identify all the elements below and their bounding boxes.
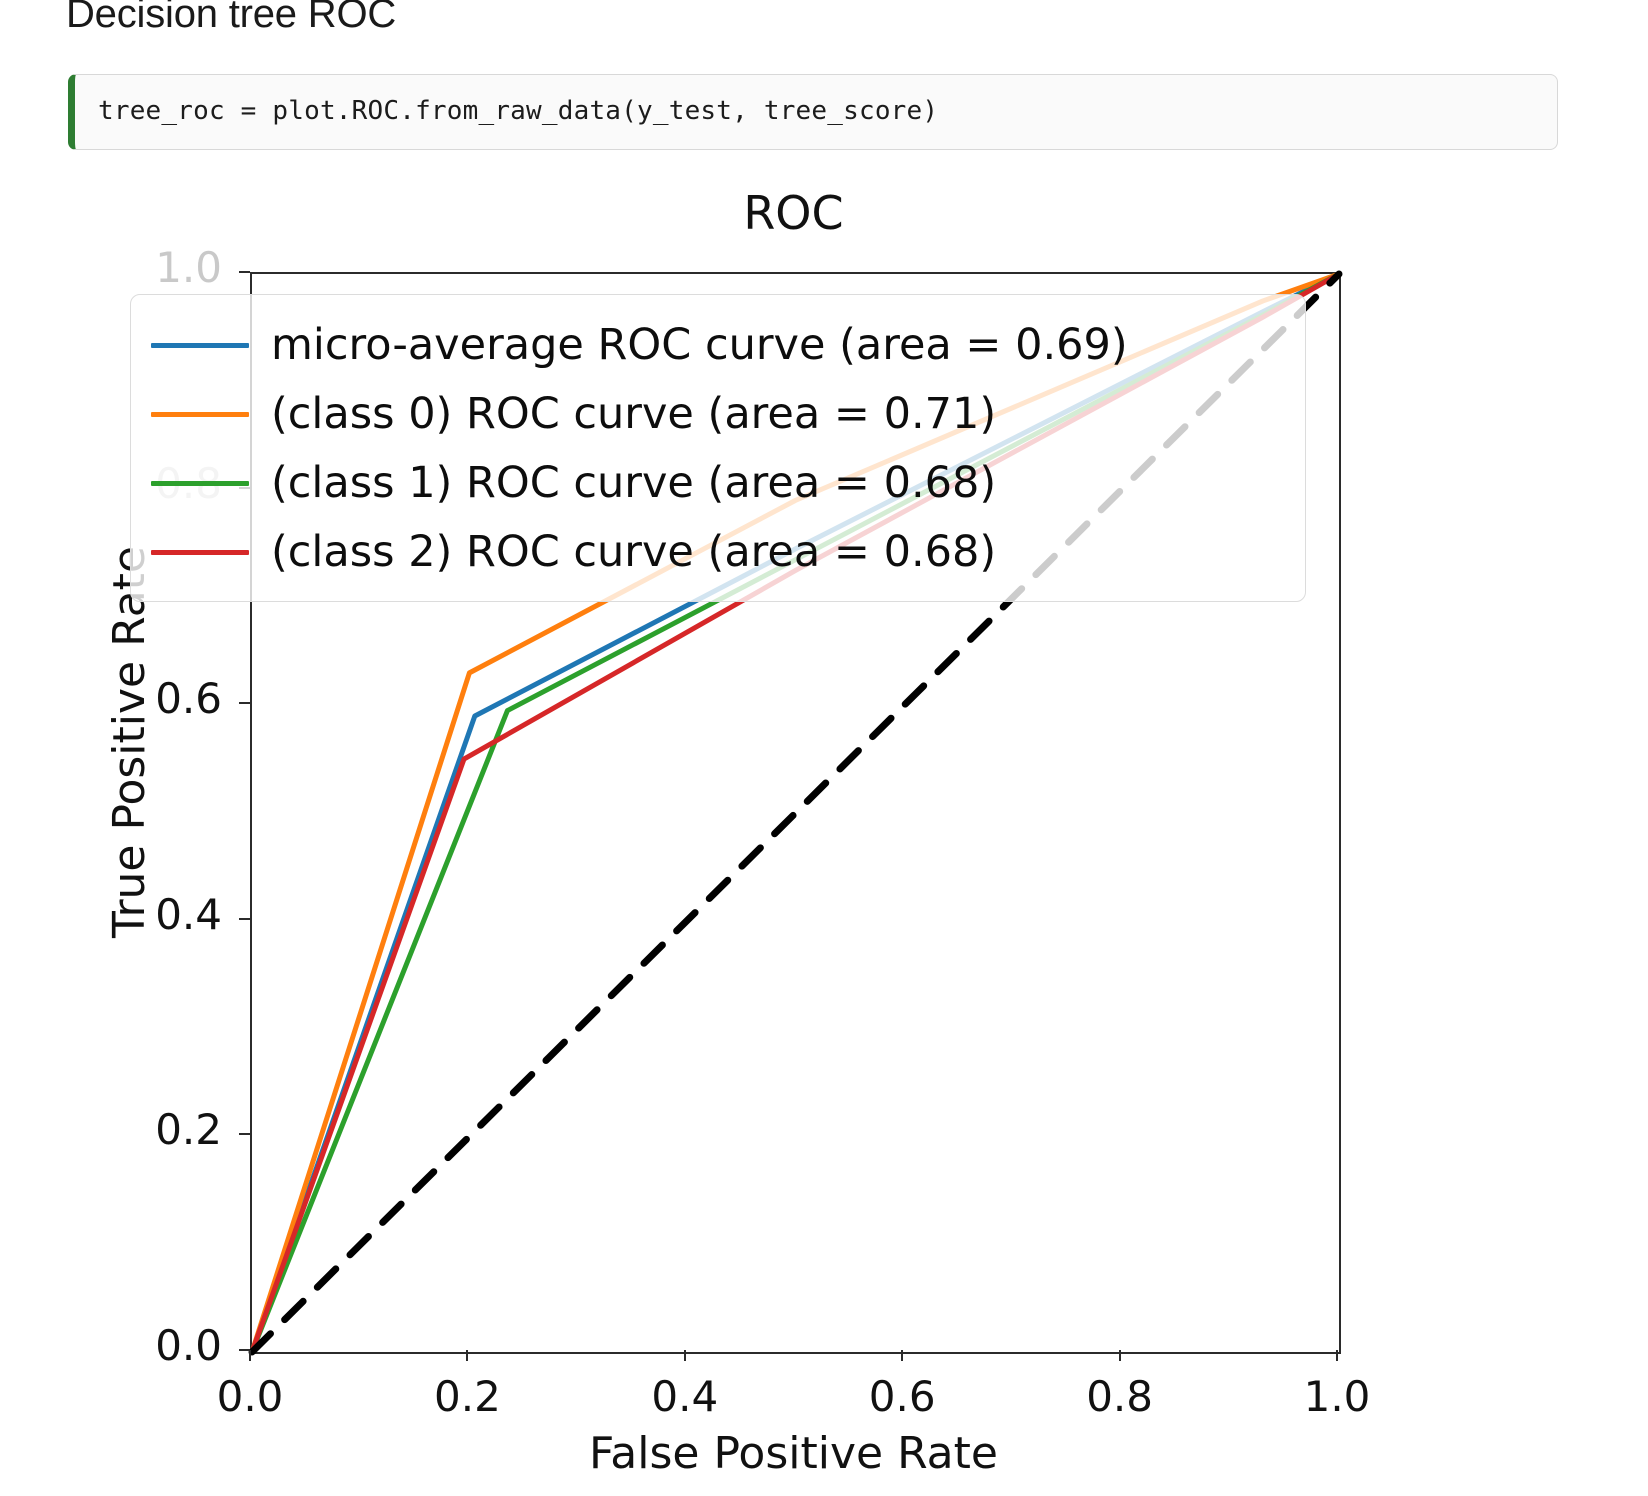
y-axis-label: True Positive Rate: [104, 546, 155, 938]
legend-color-swatch: [151, 412, 249, 417]
y-tick-mark: [239, 271, 250, 273]
legend-item: (class 2) ROC curve (area = 0.68): [131, 518, 1305, 587]
x-tick-mark: [466, 1350, 468, 1361]
legend-item: (class 0) ROC curve (area = 0.71): [131, 380, 1305, 449]
y-tick-label: 1.0: [112, 243, 222, 292]
x-tick-mark: [249, 1350, 251, 1361]
y-tick-mark: [239, 918, 250, 920]
y-tick-label: 0.0: [112, 1321, 222, 1370]
x-tick-mark: [1336, 1350, 1338, 1361]
x-axis-label: False Positive Rate: [250, 1428, 1337, 1479]
legend-label: micro-average ROC curve (area = 0.69): [271, 324, 1128, 367]
x-tick-label: 0.4: [651, 1372, 718, 1421]
code-cell-source: tree_roc = plot.ROC.from_raw_data(y_test…: [98, 96, 938, 126]
legend-item: (class 1) ROC curve (area = 0.68): [131, 449, 1305, 518]
y-tick-label: 0.4: [112, 890, 222, 939]
y-axis-label-wrap: True Positive Rate: [104, 546, 164, 1186]
code-cell[interactable]: tree_roc = plot.ROC.from_raw_data(y_test…: [68, 74, 1558, 150]
chart-legend: micro-average ROC curve (area = 0.69)(cl…: [130, 294, 1306, 602]
x-tick-label: 0.2: [434, 1372, 501, 1421]
legend-label: (class 1) ROC curve (area = 0.68): [271, 462, 996, 505]
legend-label: (class 2) ROC curve (area = 0.68): [271, 531, 996, 574]
x-tick-label: 0.6: [869, 1372, 936, 1421]
legend-color-swatch: [151, 481, 249, 486]
legend-color-swatch: [151, 550, 249, 555]
y-tick-mark: [239, 702, 250, 704]
legend-label: (class 0) ROC curve (area = 0.71): [271, 393, 996, 436]
x-tick-label: 1.0: [1304, 1372, 1371, 1421]
legend-item: micro-average ROC curve (area = 0.69): [131, 311, 1305, 380]
roc-chart: ROC True Positive Rate False Positive Ra…: [0, 160, 1648, 1496]
y-tick-label: 0.2: [112, 1105, 222, 1154]
page-title: Decision tree ROC: [66, 0, 396, 37]
y-tick-label: 0.6: [112, 674, 222, 723]
x-tick-label: 0.0: [217, 1372, 284, 1421]
x-tick-mark: [684, 1350, 686, 1361]
x-tick-mark: [901, 1350, 903, 1361]
legend-color-swatch: [151, 343, 249, 348]
x-tick-label: 0.8: [1086, 1372, 1153, 1421]
y-tick-mark: [239, 1133, 250, 1135]
chart-title: ROC: [250, 186, 1337, 240]
x-tick-mark: [1119, 1350, 1121, 1361]
